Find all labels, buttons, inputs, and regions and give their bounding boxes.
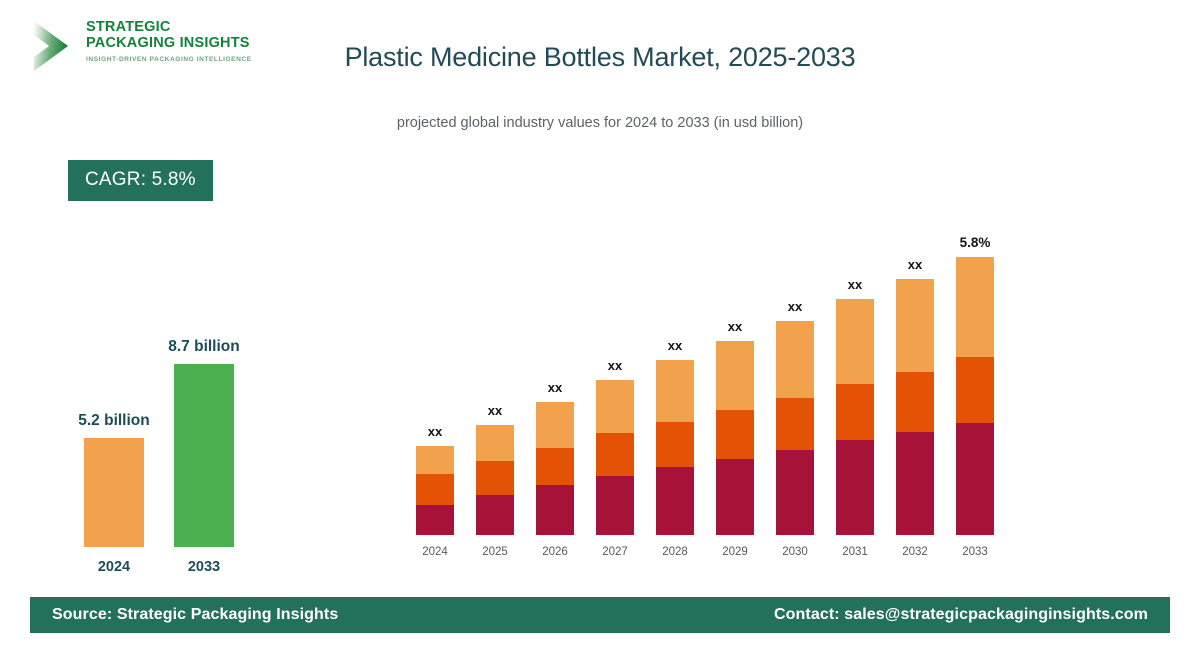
forecast-bar-segment-segment-3 bbox=[656, 360, 694, 422]
cagr-badge: CAGR: 5.8% bbox=[68, 160, 213, 201]
forecast-bar-segment-segment-3 bbox=[716, 341, 754, 410]
forecast-bar-column: xx2030 bbox=[765, 200, 825, 560]
forecast-stacked-bar-chart: xx2024xx2025xx2026xx2027xx2028xx2029xx20… bbox=[405, 200, 1025, 560]
logo-line-1: STRATEGIC bbox=[86, 20, 286, 36]
forecast-bar-segment-segment-1 bbox=[536, 485, 574, 535]
forecast-stacked-bar bbox=[536, 402, 574, 535]
forecast-bar-year-label: 2033 bbox=[945, 546, 1005, 558]
forecast-bar-segment-segment-2 bbox=[836, 384, 874, 440]
summary-bar-chart: 5.2 billion20248.7 billion2033 bbox=[40, 300, 300, 575]
forecast-bar-year-label: 2027 bbox=[585, 546, 645, 558]
forecast-bar-year-label: 2026 bbox=[525, 546, 585, 558]
forecast-bar-segment-segment-1 bbox=[476, 495, 514, 535]
forecast-bar-year-label: 2028 bbox=[645, 546, 705, 558]
forecast-bar-column: xx2027 bbox=[585, 200, 645, 560]
forecast-bar-segment-segment-3 bbox=[476, 425, 514, 461]
forecast-bar-segment-segment-1 bbox=[896, 432, 934, 535]
forecast-bar-value-label: xx bbox=[465, 403, 525, 418]
forecast-bar-segment-segment-2 bbox=[716, 410, 754, 459]
forecast-bar-value-label: xx bbox=[765, 299, 825, 314]
forecast-bar-segment-segment-2 bbox=[416, 474, 454, 505]
forecast-bar-year-label: 2031 bbox=[825, 546, 885, 558]
forecast-bar-segment-segment-2 bbox=[596, 433, 634, 476]
forecast-stacked-bar bbox=[716, 341, 754, 535]
forecast-bar-segment-segment-3 bbox=[536, 402, 574, 448]
forecast-stacked-bar bbox=[656, 360, 694, 535]
forecast-bar-column: xx2026 bbox=[525, 200, 585, 560]
summary-bar-year-label: 2024 bbox=[64, 559, 164, 575]
forecast-bar-segment-segment-1 bbox=[776, 450, 814, 535]
summary-bar bbox=[84, 438, 144, 547]
forecast-bar-value-label: 5.8% bbox=[945, 235, 1005, 250]
summary-bar-value-label: 8.7 billion bbox=[138, 338, 270, 356]
forecast-bar-segment-segment-1 bbox=[836, 440, 874, 535]
forecast-bar-year-label: 2030 bbox=[765, 546, 825, 558]
forecast-stacked-bar bbox=[836, 299, 874, 535]
footer-source: Source: Strategic Packaging Insights bbox=[52, 606, 338, 624]
summary-bar bbox=[174, 364, 234, 547]
forecast-bar-year-label: 2025 bbox=[465, 546, 525, 558]
forecast-bar-column: xx2032 bbox=[885, 200, 945, 560]
forecast-bar-value-label: xx bbox=[645, 338, 705, 353]
footer-contact: Contact: sales@strategicpackaginginsight… bbox=[774, 606, 1148, 624]
forecast-bar-segment-segment-3 bbox=[956, 257, 994, 357]
forecast-bar-segment-segment-3 bbox=[896, 279, 934, 372]
forecast-bar-segment-segment-3 bbox=[776, 321, 814, 398]
forecast-bar-segment-segment-2 bbox=[896, 372, 934, 432]
forecast-bar-segment-segment-1 bbox=[416, 505, 454, 535]
forecast-bar-segment-segment-2 bbox=[956, 357, 994, 423]
forecast-bar-year-label: 2032 bbox=[885, 546, 945, 558]
forecast-stacked-bar bbox=[476, 425, 514, 535]
forecast-bar-segment-segment-2 bbox=[476, 461, 514, 495]
page-title: Plastic Medicine Bottles Market, 2025-20… bbox=[0, 42, 1200, 73]
forecast-bar-segment-segment-2 bbox=[776, 398, 814, 450]
forecast-stacked-bar bbox=[956, 257, 994, 535]
forecast-bar-column: 5.8%2033 bbox=[945, 200, 1005, 560]
forecast-bar-segment-segment-1 bbox=[716, 459, 754, 535]
forecast-bar-column: xx2028 bbox=[645, 200, 705, 560]
forecast-bar-segment-segment-3 bbox=[596, 380, 634, 433]
forecast-stacked-bar bbox=[416, 446, 454, 535]
forecast-bar-segment-segment-2 bbox=[536, 448, 574, 485]
forecast-bar-year-label: 2029 bbox=[705, 546, 765, 558]
forecast-bar-value-label: xx bbox=[885, 257, 945, 272]
forecast-bar-segment-segment-3 bbox=[416, 446, 454, 474]
forecast-bar-value-label: xx bbox=[525, 380, 585, 395]
forecast-stacked-bar bbox=[776, 321, 814, 535]
forecast-bar-segment-segment-1 bbox=[956, 423, 994, 535]
footer-bar: Source: Strategic Packaging Insights Con… bbox=[30, 597, 1170, 633]
summary-bar-column: 8.7 billion2033 bbox=[168, 300, 240, 575]
forecast-bar-year-label: 2024 bbox=[405, 546, 465, 558]
forecast-bar-segment-segment-2 bbox=[656, 422, 694, 467]
forecast-bar-segment-segment-3 bbox=[836, 299, 874, 384]
forecast-bar-value-label: xx bbox=[705, 319, 765, 334]
forecast-bar-column: xx2031 bbox=[825, 200, 885, 560]
summary-bar-value-label: 5.2 billion bbox=[48, 412, 180, 430]
forecast-stacked-bar bbox=[596, 380, 634, 535]
forecast-bar-column: xx2024 bbox=[405, 200, 465, 560]
summary-bar-year-label: 2033 bbox=[154, 559, 254, 575]
forecast-bar-column: xx2025 bbox=[465, 200, 525, 560]
forecast-stacked-bar bbox=[896, 279, 934, 535]
forecast-bar-value-label: xx bbox=[405, 424, 465, 439]
forecast-bar-column: xx2029 bbox=[705, 200, 765, 560]
page-subtitle: projected global industry values for 202… bbox=[0, 115, 1200, 131]
forecast-bar-value-label: xx bbox=[825, 277, 885, 292]
forecast-bar-segment-segment-1 bbox=[656, 467, 694, 535]
forecast-bar-segment-segment-1 bbox=[596, 476, 634, 535]
forecast-bar-value-label: xx bbox=[585, 358, 645, 373]
